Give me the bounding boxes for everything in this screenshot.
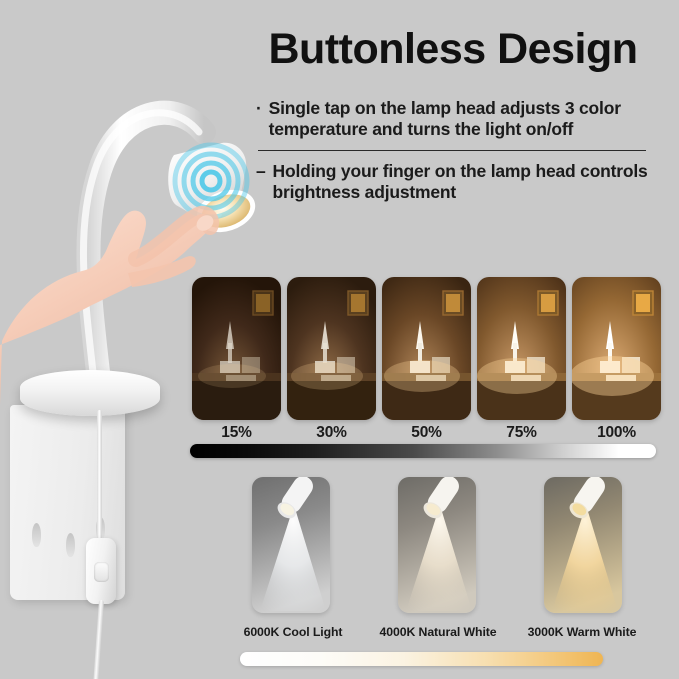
product-infographic: Buttonless Design · Single tap on the la…: [0, 0, 679, 679]
divider: [258, 150, 646, 151]
lamp-base: [20, 370, 160, 416]
color-temp-label: 3000K Warm White: [523, 625, 641, 639]
brightness-thumbnail[interactable]: [477, 277, 566, 420]
color-temp-thumbnail[interactable]: [544, 477, 622, 613]
brightness-thumbnail[interactable]: [287, 277, 376, 420]
feature-text-1: Single tap on the lamp head adjusts 3 co…: [269, 98, 648, 141]
brightness-label: 30%: [287, 424, 376, 442]
keyhole-slot: [66, 533, 75, 557]
brightness-label: 15%: [192, 424, 281, 442]
brightness-label: 50%: [382, 424, 471, 442]
brightness-label: 100%: [572, 424, 661, 442]
color-temp-label: 6000K Cool Light: [238, 625, 348, 639]
brightness-gradient-bar[interactable]: [190, 444, 656, 458]
feature-item-2: – Holding your finger on the lamp head c…: [256, 161, 648, 204]
power-cord-lower: [91, 600, 104, 679]
color-temp-thumbnail[interactable]: [398, 477, 476, 613]
page-title: Buttonless Design: [248, 28, 658, 71]
feature-item-1: · Single tap on the lamp head adjusts 3 …: [256, 98, 648, 141]
brightness-thumbnail[interactable]: [192, 277, 281, 420]
feature-text-2: Holding your finger on the lamp head con…: [273, 161, 648, 204]
color-temp-thumbnail[interactable]: [252, 477, 330, 613]
brightness-thumbnail-row: [192, 277, 662, 422]
feature-list: · Single tap on the lamp head adjusts 3 …: [256, 98, 648, 203]
color-temp-label: 4000K Natural White: [378, 625, 498, 639]
brightness-thumbnail[interactable]: [572, 277, 661, 420]
keyhole-slot: [32, 523, 41, 547]
color-temperature-thumbnail-row: [252, 477, 622, 614]
inline-switch[interactable]: [86, 538, 116, 604]
brightness-label: 75%: [477, 424, 566, 442]
color-temperature-gradient-bar[interactable]: [240, 652, 603, 666]
brightness-thumbnail[interactable]: [382, 277, 471, 420]
